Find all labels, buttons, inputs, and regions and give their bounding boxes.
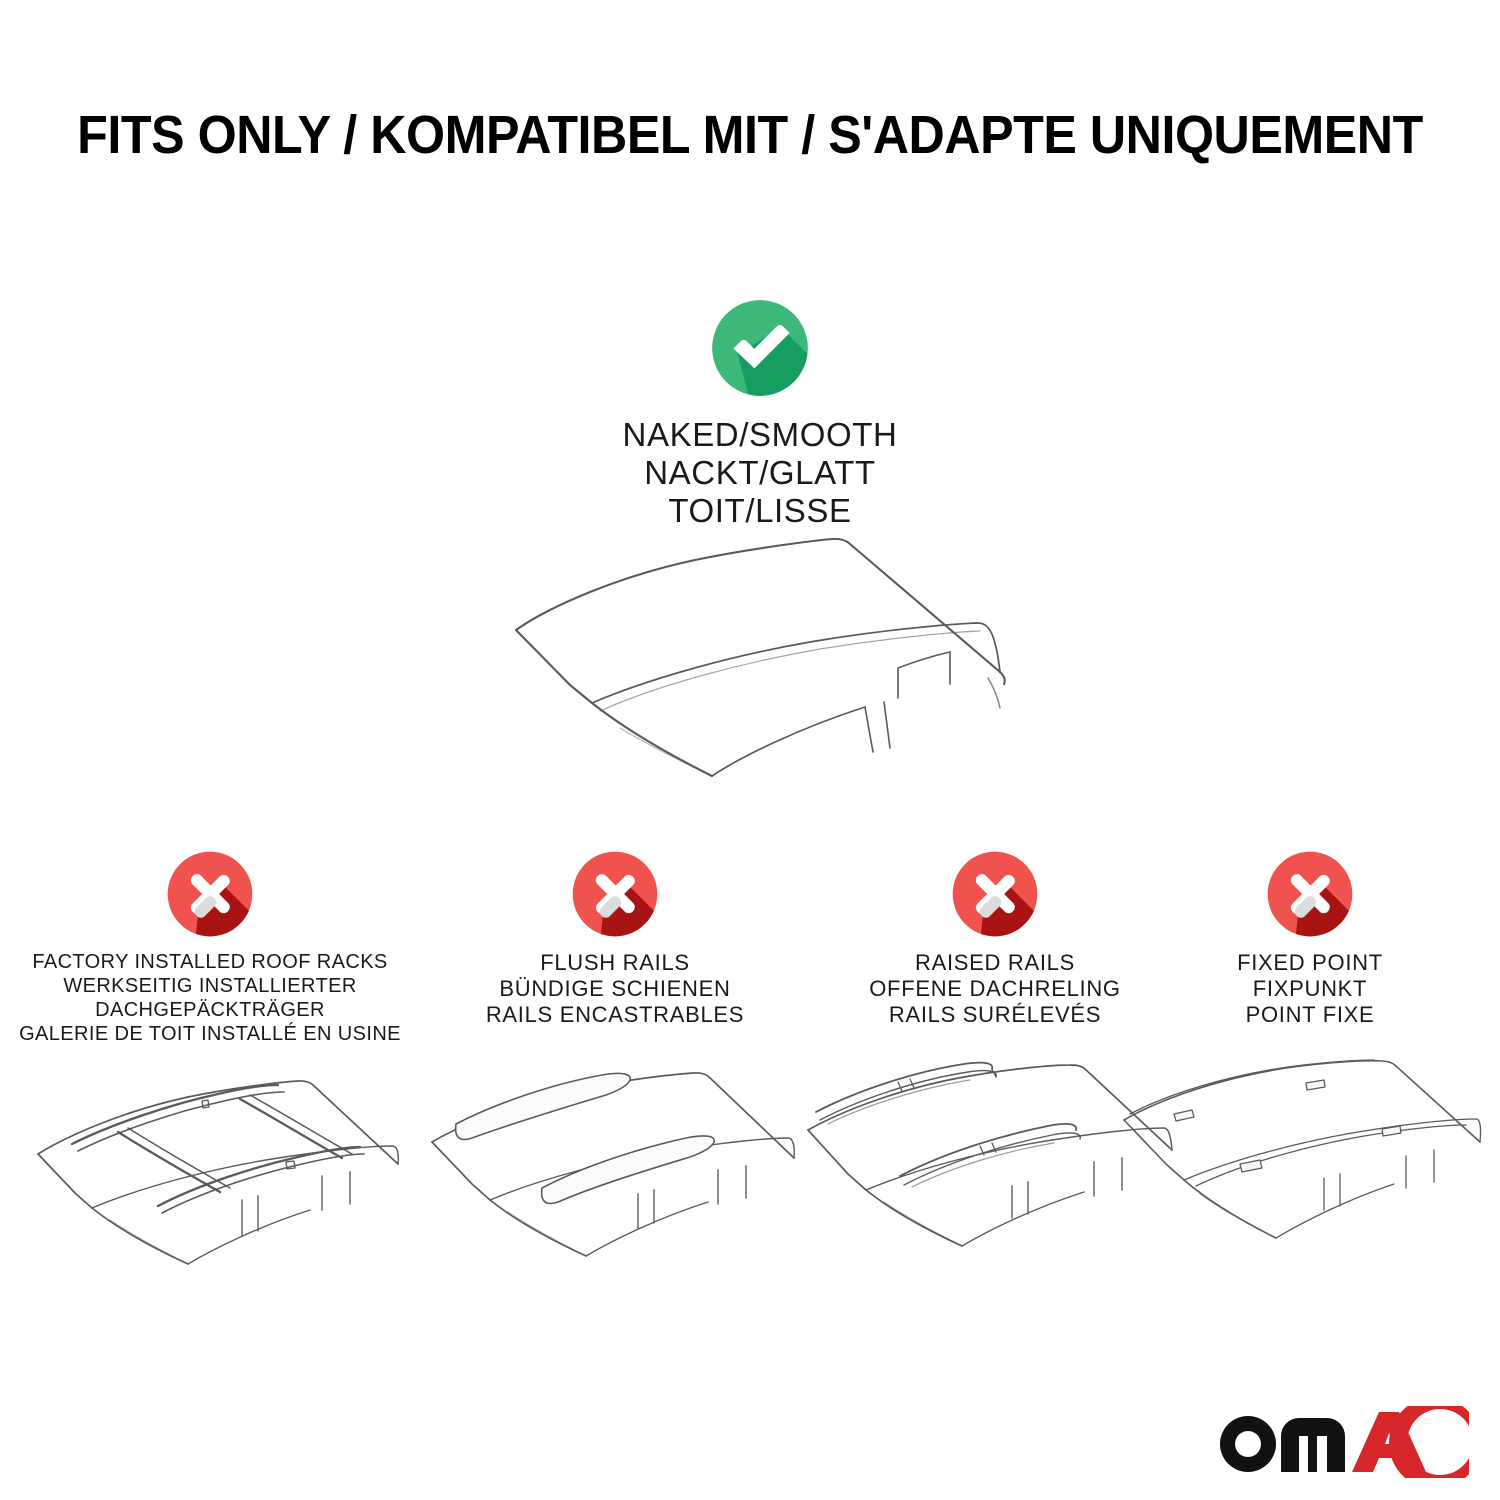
- label-de-2: DACHGEPÄCKTRÄGER: [0, 998, 420, 1022]
- incompatible-column-fixed-point: FIXED POINT FIXPUNKT POINT FIXE: [1100, 848, 1500, 1028]
- omac-logo: [1213, 1406, 1473, 1478]
- incompatible-labels: FACTORY INSTALLED ROOF RACKS WERKSEITIG …: [0, 950, 420, 1046]
- incompatible-column-flush-rails: FLUSH RAILS BÜNDIGE SCHIENEN RAILS ENCAS…: [405, 848, 825, 1028]
- incompatible-labels: FLUSH RAILS BÜNDIGE SCHIENEN RAILS ENCAS…: [405, 950, 825, 1028]
- compatible-section: NAKED/SMOOTH NACKT/GLATT TOIT/LISSE: [450, 296, 1070, 530]
- compatible-labels: NAKED/SMOOTH NACKT/GLATT TOIT/LISSE: [450, 416, 1070, 530]
- label-en: FACTORY INSTALLED ROOF RACKS: [0, 950, 420, 974]
- infographic-page: FITS ONLY / KOMPATIBEL MIT / S'ADAPTE UN…: [0, 0, 1500, 1500]
- cross-circle-icon: [164, 848, 256, 940]
- label-en: FLUSH RAILS: [405, 950, 825, 976]
- car-roof-factory-roof-racks-illustration: [10, 1058, 430, 1273]
- car-roof-naked-smooth-illustration: [480, 520, 1050, 790]
- label-de-1: BÜNDIGE SCHIENEN: [405, 976, 825, 1002]
- label-de-1: WERKSEITIG INSTALLIERTER: [0, 974, 420, 998]
- car-roof-fixed-point-illustration: [1110, 1058, 1500, 1273]
- cross-circle-icon: [949, 848, 1041, 940]
- check-circle-icon: [708, 296, 812, 400]
- cross-circle-icon: [569, 848, 661, 940]
- incompatible-labels: FIXED POINT FIXPUNKT POINT FIXE: [1100, 950, 1500, 1028]
- compatible-label-en: NAKED/SMOOTH: [450, 416, 1070, 454]
- compatible-label-de: NACKT/GLATT: [450, 454, 1070, 492]
- label-fr: RAILS ENCASTRABLES: [405, 1002, 825, 1028]
- label-de-1: FIXPUNKT: [1100, 976, 1500, 1002]
- page-title: FITS ONLY / KOMPATIBEL MIT / S'ADAPTE UN…: [53, 104, 1448, 166]
- cross-circle-icon: [1264, 848, 1356, 940]
- label-en: FIXED POINT: [1100, 950, 1500, 976]
- label-fr: POINT FIXE: [1100, 1002, 1500, 1028]
- title-bar: FITS ONLY / KOMPATIBEL MIT / S'ADAPTE UN…: [0, 104, 1500, 166]
- car-roof-flush-rails-illustration: [410, 1058, 830, 1273]
- label-fr: GALERIE DE TOIT INSTALLÉ EN USINE: [0, 1022, 420, 1046]
- incompatible-column-factory-roof-racks: FACTORY INSTALLED ROOF RACKS WERKSEITIG …: [0, 848, 420, 1046]
